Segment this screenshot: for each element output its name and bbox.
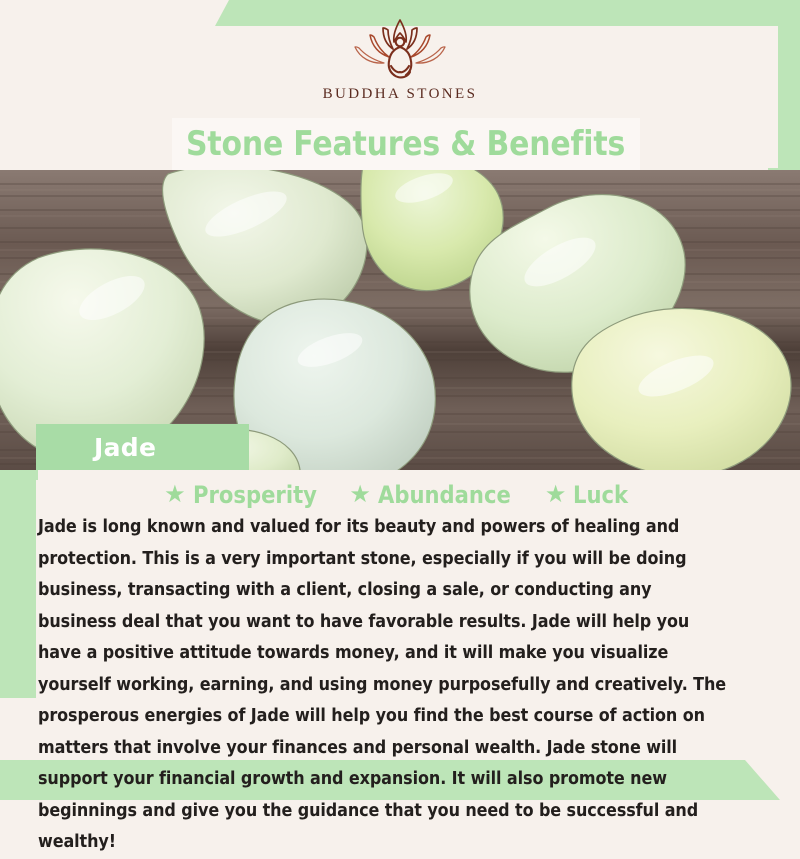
stone-description: Jade is long known and valued for its be… bbox=[38, 512, 728, 859]
brand-header: BUDDHA STONES bbox=[0, 0, 800, 118]
benefit-label: Prosperity bbox=[193, 481, 317, 509]
page-title: Stone Features & Benefits bbox=[186, 124, 625, 164]
star-icon: ★ bbox=[164, 483, 186, 507]
lotus-meditation-icon bbox=[348, 16, 452, 82]
benefits-row: ★ Prosperity ★ Abundance ★ Luck bbox=[0, 478, 800, 512]
brand-wordmark: BUDDHA STONES bbox=[323, 86, 478, 103]
star-icon: ★ bbox=[349, 483, 371, 507]
star-icon: ★ bbox=[545, 483, 567, 507]
stone-name-banner: Jade bbox=[36, 424, 249, 470]
benefit-label: Abundance bbox=[378, 481, 511, 509]
title-banner: Stone Features & Benefits bbox=[172, 118, 640, 170]
benefit-label: Luck bbox=[573, 481, 628, 509]
stone-name: Jade bbox=[36, 433, 156, 462]
benefit-item: ★ Luck bbox=[545, 481, 636, 509]
benefit-item: ★ Abundance bbox=[349, 481, 528, 509]
benefit-item: ★ Prosperity bbox=[164, 481, 333, 509]
